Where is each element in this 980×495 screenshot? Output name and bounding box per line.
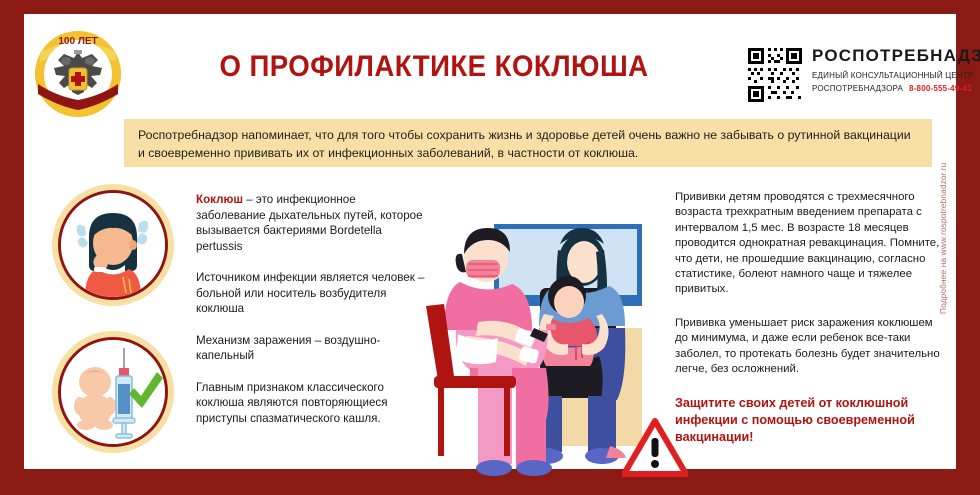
left-text-column: Коклюш – это инфекционное заболевание ды… <box>196 192 426 442</box>
reminder-banner: Роспотребнадзор напоминает, что для того… <box>124 119 932 167</box>
rospotrebnadzor-emblem-icon: 100 ЛЕТ <box>26 22 130 126</box>
right-text-column: Прививки детям проводятся с трехмесячног… <box>675 190 947 464</box>
hotline-phone[interactable]: 8-800-555-49-43 <box>909 84 972 93</box>
poster-root: 100 ЛЕТ О ПРОФИЛАКТИКЕ КОКЛЮША <box>0 0 980 495</box>
page-title: О ПРОФИЛАКТИКЕ КОКЛЮША <box>195 50 673 84</box>
brand-title: РОСПОТРЕБНАДЗОР <box>812 46 980 66</box>
call-to-action-text: Защитите своих детей от коклюшной инфекц… <box>675 395 947 446</box>
brand-subtitle-line1: ЕДИНЫЙ КОНСУЛЬТАЦИОННЫЙ ЦЕНТР <box>812 71 973 80</box>
coughing-girl-icon <box>61 193 165 297</box>
brand-subtitle-line2: РОСПОТРЕБНАДЗОРА8-800-555-49-43 <box>812 84 972 93</box>
icon-badge-vaccination-ring <box>58 337 168 447</box>
emblem-years-text: 100 ЛЕТ <box>58 36 97 47</box>
website-vertical-note[interactable]: Подробнее на www.rospotrebnadzor.ru <box>939 163 948 314</box>
qr-code-icon[interactable] <box>746 46 804 104</box>
right-paragraph-schedule: Прививки детям проводятся с трехмесячног… <box>675 190 947 298</box>
brand-subtitle-text: РОСПОТРЕБНАДЗОРА <box>812 84 903 93</box>
icon-badge-cough <box>52 184 174 306</box>
icon-badge-cough-ring <box>58 190 168 300</box>
brand-block: РОСПОТРЕБНАДЗОР ЕДИНЫЙ КОНСУЛЬТАЦИОННЫЙ … <box>724 40 956 112</box>
baby-syringe-checkmark-icon <box>61 340 165 444</box>
left-paragraph-definition: Коклюш – это инфекционное заболевание ды… <box>196 192 426 254</box>
reminder-banner-text: Роспотребнадзор напоминает, что для того… <box>138 126 918 162</box>
keyword-pertussis: Коклюш <box>196 193 243 206</box>
left-paragraph-transmission: Механизм заражения – воздушно-капельный <box>196 333 426 364</box>
left-paragraph-symptoms: Главным признаком классического коклюша … <box>196 380 426 427</box>
left-paragraph-source: Источником инфекции является человек – б… <box>196 270 426 317</box>
poster-inner-canvas: 100 ЛЕТ О ПРОФИЛАКТИКЕ КОКЛЮША <box>24 14 956 469</box>
icon-badge-vaccination <box>52 331 174 453</box>
right-paragraph-effect: Прививка уменьшает риск заражения коклюш… <box>675 316 947 378</box>
